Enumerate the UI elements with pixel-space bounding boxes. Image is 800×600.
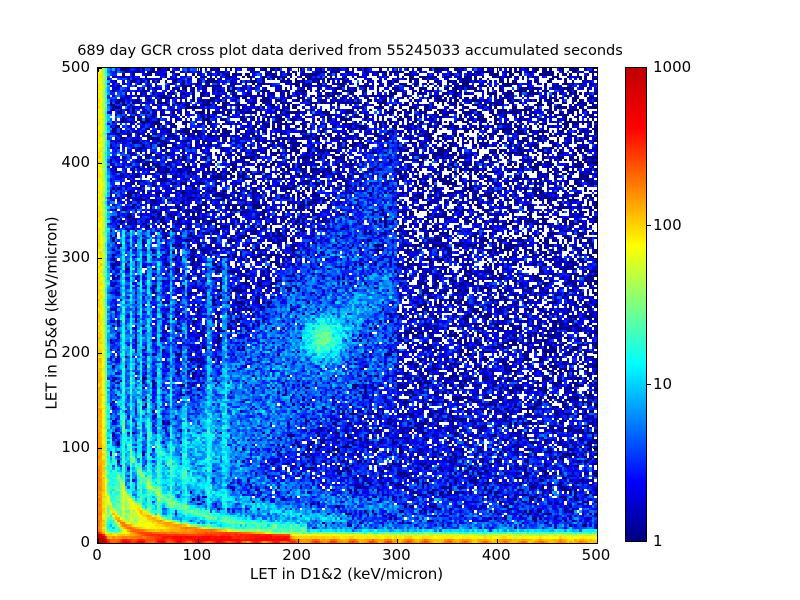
y-tick-right-0	[593, 543, 597, 544]
colorbar-label-10: 10	[653, 375, 672, 393]
y-tick-right-500	[593, 68, 597, 69]
x-tick-top-500	[597, 68, 598, 72]
y-tick-right-400	[593, 163, 597, 164]
plot-axes[interactable]	[97, 67, 598, 544]
x-tick-top-400	[497, 68, 498, 72]
x-tick-200	[298, 539, 299, 543]
colorbar-tick-100	[647, 225, 651, 226]
x-tick-label-0: 0	[92, 546, 102, 564]
x-tick-top-200	[298, 68, 299, 72]
y-tick-100	[98, 448, 102, 449]
colorbar-tick-10	[647, 384, 651, 385]
y-tick-0	[98, 543, 102, 544]
y-tick-200	[98, 353, 102, 354]
x-tick-label-100: 100	[182, 546, 211, 564]
x-tick-500	[597, 539, 598, 543]
title-line-1: 689 day GCR cross plot data derived from…	[0, 42, 700, 60]
y-axis-label: LET in D5&6 (keV/micron)	[43, 76, 61, 551]
x-tick-label-200: 200	[282, 546, 311, 564]
y-tick-500	[98, 68, 102, 69]
y-tick-right-200	[593, 353, 597, 354]
x-tick-100	[198, 539, 199, 543]
y-tick-right-100	[593, 448, 597, 449]
y-tick-right-300	[593, 258, 597, 259]
y-tick-300	[98, 258, 102, 259]
x-tick-top-100	[198, 68, 199, 72]
y-tick-label-500: 500	[0, 58, 90, 76]
colorbar-gradient[interactable]	[625, 67, 647, 542]
colorbar[interactable]: 1101001000	[625, 67, 647, 542]
x-axis-label: LET in D1&2 (keV/micron)	[97, 565, 596, 583]
y-tick-400	[98, 163, 102, 164]
scatter-density-plot[interactable]	[98, 68, 597, 543]
x-tick-400	[497, 539, 498, 543]
x-tick-label-400: 400	[482, 546, 511, 564]
x-tick-label-300: 300	[382, 546, 411, 564]
x-tick-top-300	[397, 68, 398, 72]
colorbar-label-100: 100	[653, 216, 682, 234]
x-tick-label-500: 500	[582, 546, 611, 564]
colorbar-label-1000: 1000	[653, 58, 691, 76]
x-tick-300	[397, 539, 398, 543]
colorbar-label-1: 1	[653, 532, 663, 550]
figure-canvas: 689 day GCR cross plot data derived from…	[0, 0, 800, 600]
